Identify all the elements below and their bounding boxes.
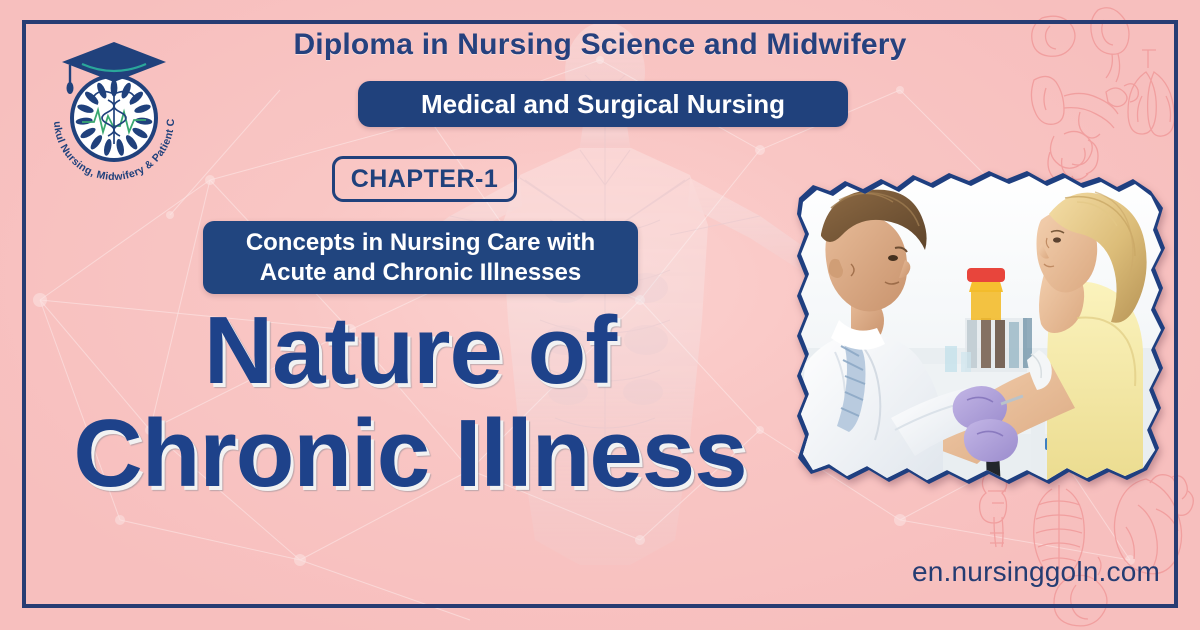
course-pill-label: Medical and Surgical Nursing (421, 89, 785, 120)
website-url[interactable]: en.nursinggoln.com (912, 556, 1160, 588)
heading-text: Diploma in Nursing Science and Midwifery (293, 28, 906, 62)
main-title-line-2: Chronic Illness (0, 403, 820, 506)
subtitle-box: Concepts in Nursing Care with Acute and … (203, 221, 638, 294)
course-pill: Medical and Surgical Nursing (358, 81, 848, 127)
subtitle-line-2: Acute and Chronic Illnesses (260, 258, 581, 287)
subtitle-line-1: Concepts in Nursing Care with (246, 228, 595, 257)
website-url-text: en.nursinggoln.com (912, 556, 1160, 587)
page-title: Diploma in Nursing Science and Midwifery (0, 28, 1200, 62)
blood-draw-photo (795, 168, 1167, 498)
course-banner: Gurukul Nursing, Midwifery & Patient Car… (0, 0, 1200, 630)
chapter-badge-label: CHAPTER-1 (351, 165, 499, 194)
main-title: Nature of Chronic Illness (0, 300, 820, 505)
main-title-line-1: Nature of (204, 297, 616, 404)
chapter-badge: CHAPTER-1 (332, 156, 517, 202)
